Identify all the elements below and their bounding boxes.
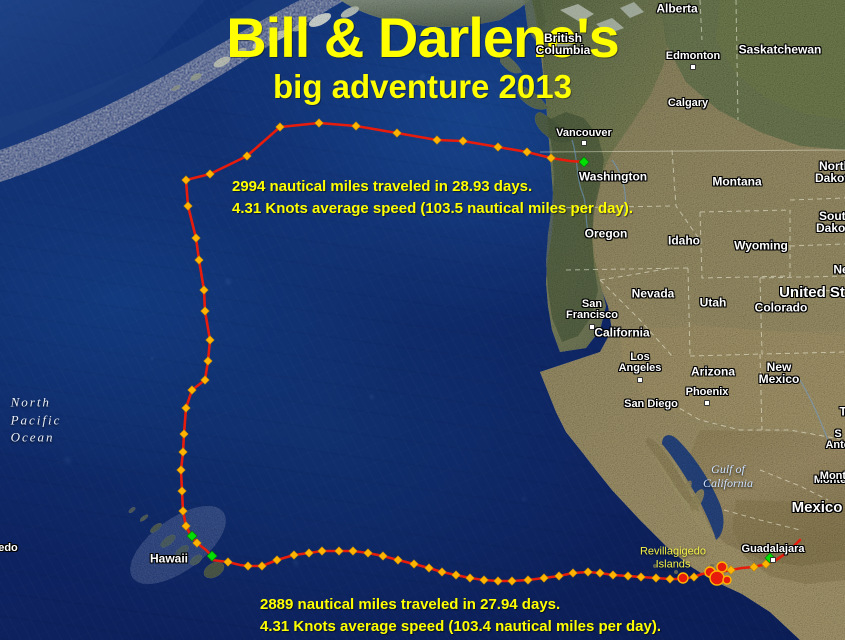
- island-marker: [678, 573, 688, 583]
- track-waypoint: [637, 573, 645, 581]
- track-waypoint: [305, 549, 313, 557]
- track-waypoint: [315, 119, 323, 127]
- track-waypoint: [258, 562, 266, 570]
- voyage-endpoint-marker: [579, 157, 589, 167]
- track-waypoint: [394, 556, 402, 564]
- track-waypoint: [609, 571, 617, 579]
- track-waypoint: [179, 507, 187, 515]
- track-waypoint: [438, 568, 446, 576]
- track-waypoint: [200, 286, 208, 294]
- track-waypoint: [352, 122, 360, 130]
- track-waypoint: [273, 556, 281, 564]
- map-screenshot: Bill & Darlene's big adventure 2013 Nort…: [0, 0, 845, 640]
- track-waypoint: [459, 137, 467, 145]
- track-waypoint: [494, 577, 502, 585]
- track-waypoint: [206, 170, 214, 178]
- track-waypoint: [224, 558, 232, 566]
- track-waypoint: [184, 202, 192, 210]
- track-waypoint: [750, 563, 758, 571]
- track-waypoint: [410, 560, 418, 568]
- track-waypoint: [379, 552, 387, 560]
- track-waypoint: [335, 547, 343, 555]
- track-waypoint: [540, 574, 548, 582]
- track-waypoint: [494, 143, 502, 151]
- track-waypoint: [364, 549, 372, 557]
- track-waypoint: [180, 430, 188, 438]
- track-waypoint: [524, 576, 532, 584]
- track-waypoint: [452, 571, 460, 579]
- track-waypoint: [727, 566, 735, 574]
- track-waypoint: [624, 572, 632, 580]
- track-waypoint: [523, 148, 531, 156]
- track-northbound: [181, 123, 584, 556]
- city-dot-san-francisco: [589, 324, 595, 330]
- city-dot-phoenix: [704, 400, 710, 406]
- city-dot-los-angeles: [637, 377, 643, 383]
- track-waypoint: [508, 577, 516, 585]
- track-waypoint: [244, 562, 252, 570]
- track-waypoint: [349, 547, 357, 555]
- track-waypoint: [690, 573, 698, 581]
- track-waypoint: [192, 234, 200, 242]
- track-waypoint: [466, 574, 474, 582]
- island-marker: [723, 576, 731, 584]
- track-waypoint: [555, 572, 563, 580]
- track-waypoint: [425, 564, 433, 572]
- track-waypoint: [547, 154, 555, 162]
- track-waypoint: [290, 551, 298, 559]
- track-waypoint: [318, 547, 326, 555]
- track-waypoint: [584, 568, 592, 576]
- track-waypoint: [178, 487, 186, 495]
- track-waypoint: [596, 569, 604, 577]
- track-waypoint: [666, 575, 674, 583]
- voyage-track-layer: [0, 0, 845, 640]
- island-marker: [710, 571, 724, 585]
- track-waypoint: [206, 336, 214, 344]
- track-waypoint: [179, 448, 187, 456]
- city-dot-vancouver: [581, 140, 587, 146]
- city-dot-edmonton: [690, 64, 696, 70]
- track-waypoint: [652, 574, 660, 582]
- city-dot-guadalajara: [770, 557, 776, 563]
- track-waypoint: [569, 569, 577, 577]
- track-waypoint: [177, 466, 185, 474]
- track-waypoint: [182, 522, 190, 530]
- track-waypoint: [182, 176, 190, 184]
- track-waypoint: [201, 307, 209, 315]
- track-waypoint: [182, 404, 190, 412]
- track-waypoint: [393, 129, 401, 137]
- track-waypoint: [433, 136, 441, 144]
- start-end-markers: [187, 157, 775, 563]
- track-waypoint: [480, 576, 488, 584]
- track-waypoint: [204, 357, 212, 365]
- track-waypoint: [195, 256, 203, 264]
- track-waypoints: [177, 119, 770, 585]
